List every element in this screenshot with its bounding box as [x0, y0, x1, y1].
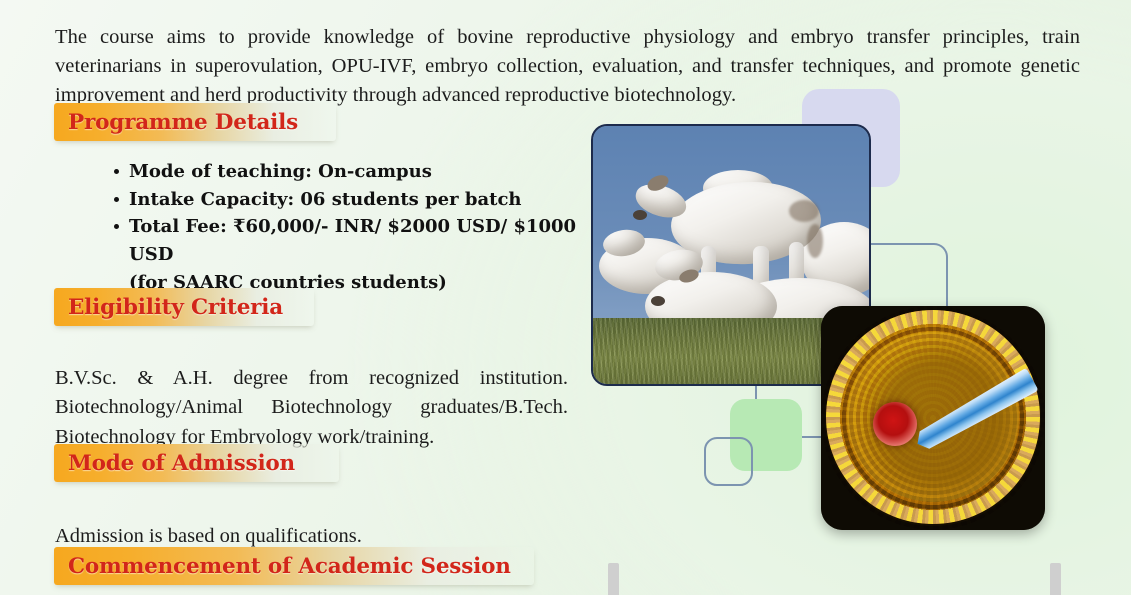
- section-heading-eligibility-criteria: Eligibility Criteria: [54, 288, 314, 326]
- list-item: Total Fee: ₹60,000/- INR/ $2000 USD/ $10…: [129, 213, 609, 296]
- connector-line-top: [864, 243, 948, 315]
- section-heading-label: Commencement of Academic Session: [68, 554, 511, 579]
- section-heading-mode-of-admission: Mode of Admission: [54, 444, 339, 482]
- cow-muzzle: [651, 296, 665, 306]
- programme-details-list: Mode of teaching: On-campus Intake Capac…: [107, 158, 609, 297]
- figure-column: [580, 0, 1131, 595]
- cow-marking: [789, 200, 819, 222]
- eligibility-criteria-text: B.V.Sc. & A.H. degree from recognized in…: [55, 364, 568, 453]
- section-heading-programme-details: Programme Details: [54, 103, 336, 141]
- oocyte-nucleus: [873, 402, 917, 446]
- list-item: Intake Capacity: 06 students per batch: [129, 186, 609, 214]
- section-heading-label: Mode of Admission: [68, 451, 295, 476]
- list-item: Mode of teaching: On-campus: [129, 158, 609, 186]
- cow-muzzle: [633, 210, 647, 220]
- bottom-bar-right: [1050, 563, 1061, 595]
- list-item-label: Mode of teaching: On-campus: [129, 161, 432, 182]
- poster-page: The course aims to provide knowledge of …: [0, 0, 1131, 595]
- list-item-label: Intake Capacity: 06 students per batch: [129, 189, 521, 210]
- oocyte-photo: [821, 306, 1045, 530]
- oocyte-zona-pellucida: [826, 310, 1040, 524]
- section-heading-label: Eligibility Criteria: [68, 295, 283, 320]
- content-column: The course aims to provide knowledge of …: [0, 0, 600, 595]
- section-heading-commencement: Commencement of Academic Session: [54, 547, 534, 585]
- bottom-bar-left: [608, 563, 619, 595]
- section-heading-label: Programme Details: [68, 110, 298, 135]
- cow-marking: [807, 224, 823, 258]
- list-item-label: Total Fee: ₹60,000/- INR/ $2000 USD/ $10…: [129, 216, 576, 265]
- decorative-outline-square: [704, 437, 753, 486]
